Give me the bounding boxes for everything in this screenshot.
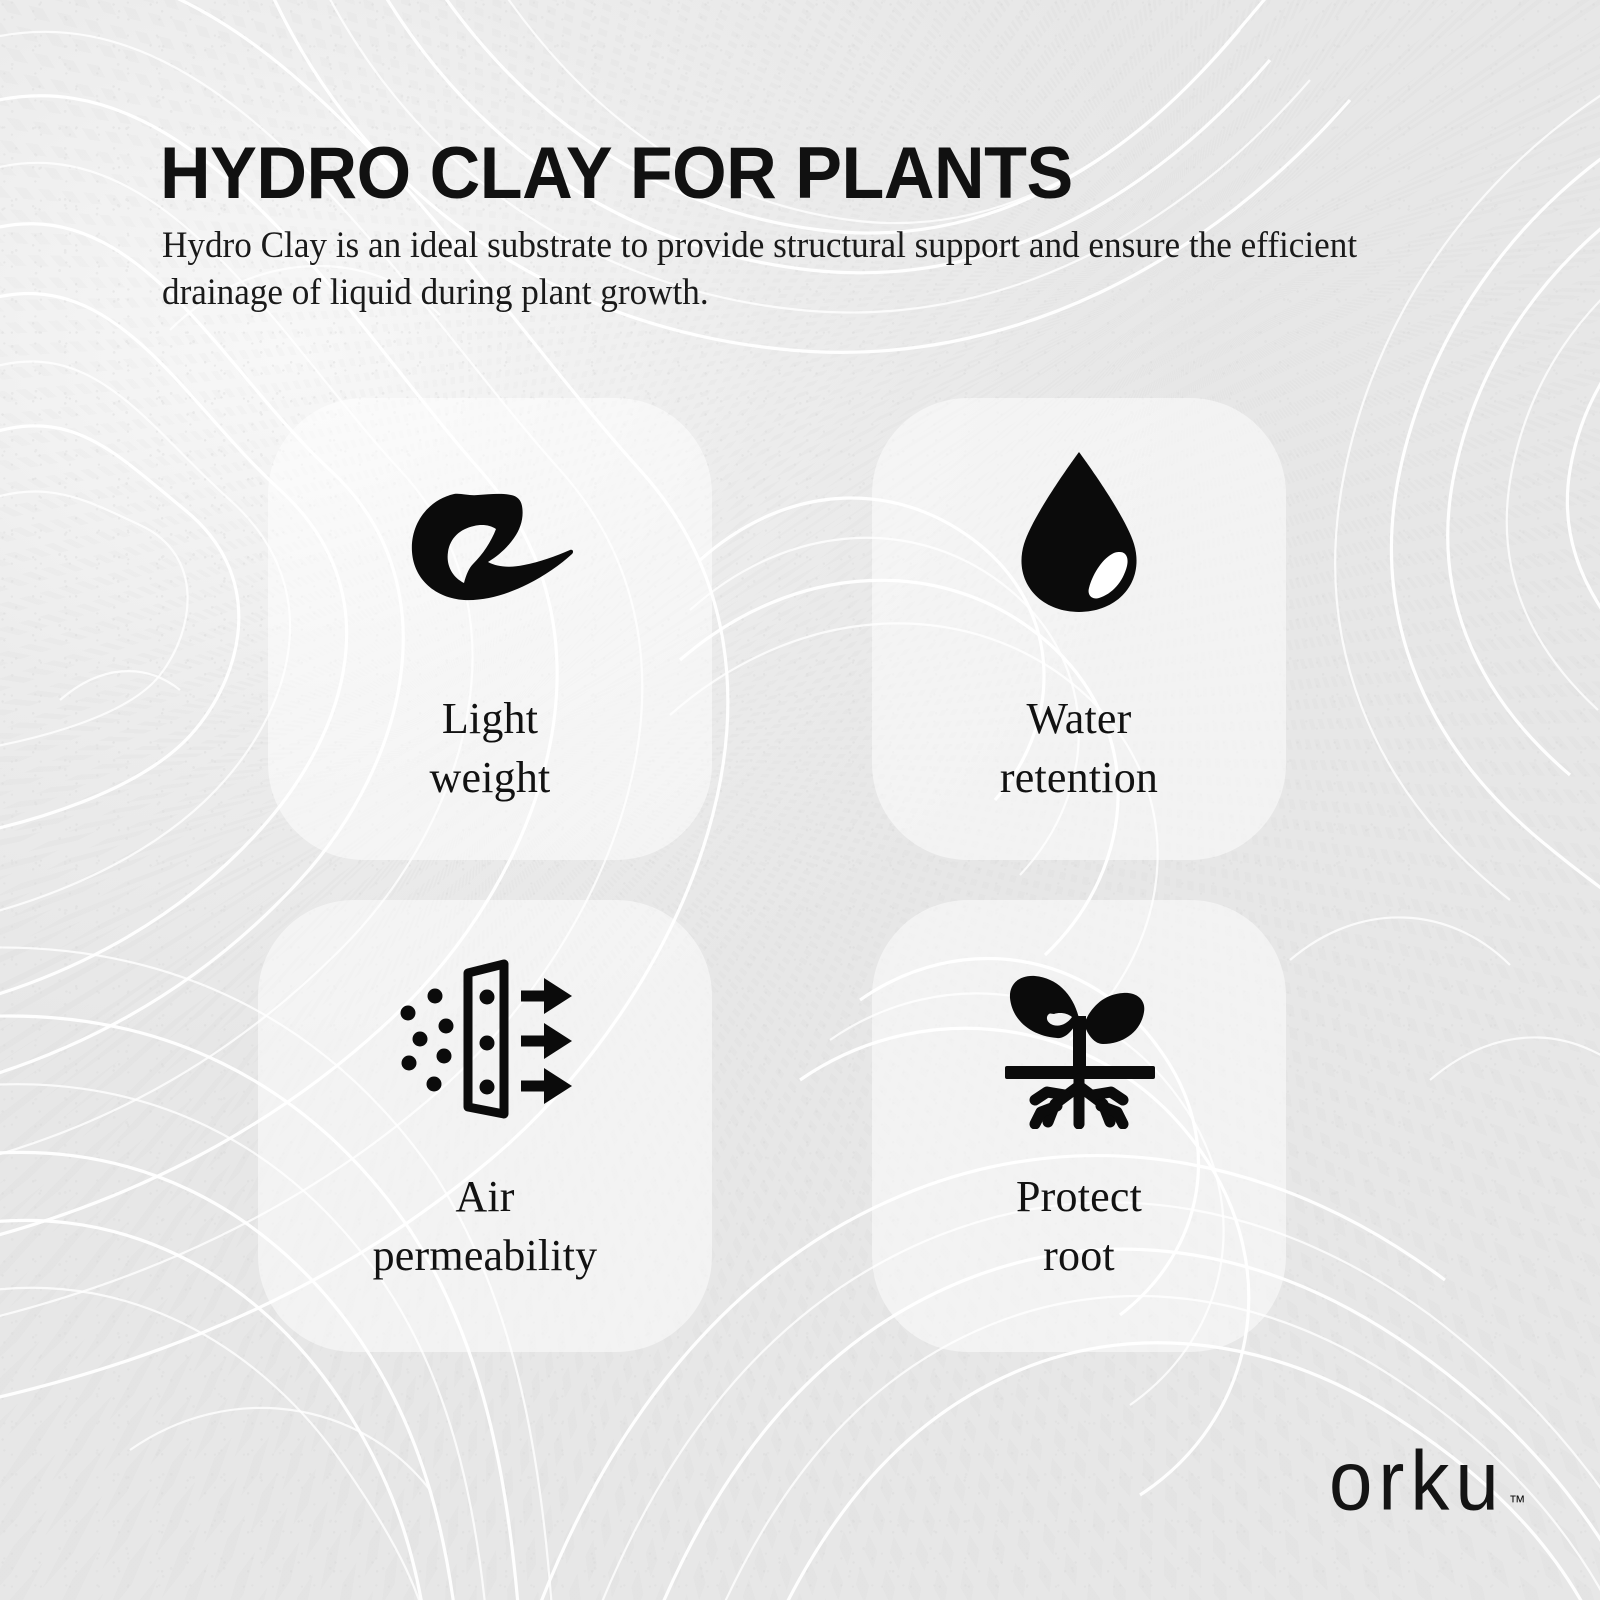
feature-label-line1: Light <box>268 690 712 749</box>
feature-card-grid: Light weight Water retention <box>0 0 1600 1600</box>
feature-label-air-permeability: Air permeability <box>258 1168 712 1285</box>
feature-label-light-weight: Light weight <box>268 690 712 807</box>
feature-card-protect-root[interactable]: Protect root <box>872 900 1286 1352</box>
feature-label-line2: weight <box>268 749 712 808</box>
trademark-symbol: ™ <box>1509 1492 1526 1513</box>
feature-label-line2: permeability <box>258 1227 712 1286</box>
brand-logo-text: orku <box>1329 1433 1505 1528</box>
poster-canvas: HYDRO CLAY FOR PLANTS Hydro Clay is an i… <box>0 0 1600 1600</box>
feature-label-protect-root: Protect root <box>872 1168 1286 1285</box>
feature-label-line1: Protect <box>872 1168 1286 1227</box>
brand-logo[interactable]: orku™ <box>1329 1438 1522 1522</box>
feature-card-water-retention[interactable]: Water retention <box>872 398 1286 860</box>
feature-label-line2: root <box>872 1227 1286 1286</box>
feature-label-line1: Air <box>258 1168 712 1227</box>
water-drop-icon <box>872 438 1286 628</box>
feather-icon <box>268 470 712 640</box>
feature-label-water-retention: Water retention <box>872 690 1286 807</box>
feature-card-light-weight[interactable]: Light weight <box>268 398 712 860</box>
membrane-airflow-icon <box>258 946 712 1136</box>
feature-card-air-permeability[interactable]: Air permeability <box>258 900 712 1352</box>
seedling-roots-icon <box>872 946 1286 1136</box>
poster-content: HYDRO CLAY FOR PLANTS Hydro Clay is an i… <box>0 0 1600 1600</box>
feature-label-line1: Water <box>872 690 1286 749</box>
feature-label-line2: retention <box>872 749 1286 808</box>
